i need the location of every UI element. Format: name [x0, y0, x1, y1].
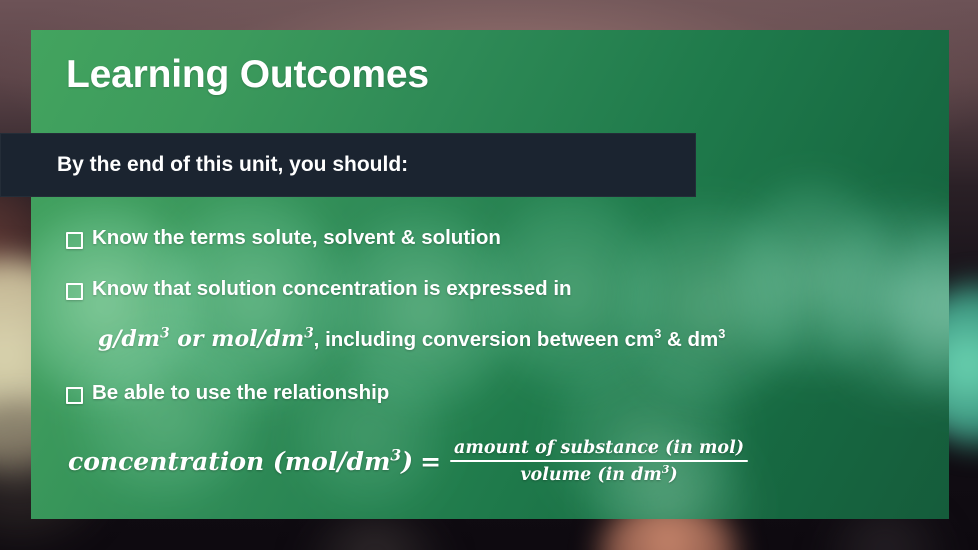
units-conjunction: or [170, 326, 212, 352]
units-mol-per-dm3-exponent: 3 [304, 326, 313, 342]
list-item: Know that solution concentration is expr… [66, 277, 572, 301]
units-mol-per-dm3-base: mol/dm [211, 326, 304, 352]
units-mol-per-dm3: mol/dm3 [211, 326, 314, 352]
units-g-per-dm3-exponent: 3 [160, 326, 169, 342]
units-g-per-dm3-base: g/dm [98, 326, 160, 352]
units-tail-text: , including conversion between cm [314, 328, 655, 351]
checkbox-square-icon [66, 387, 83, 404]
equation-left-side: concentration (mol/dm3) [68, 447, 413, 476]
units-g-per-dm3: g/dm3 [98, 326, 170, 352]
list-item: Be able to use the relationship [66, 381, 389, 405]
equation-denominator: volume (in dm3) [516, 462, 681, 486]
checkbox-square-icon [66, 232, 83, 249]
units-dm3-exponent: 3 [718, 326, 725, 341]
equation-lhs-exponent: 3 [390, 446, 401, 465]
units-subline: g/dm3 or mol/dm3, including conversion b… [98, 326, 725, 352]
equation-lhs-base: concentration (mol/dm [68, 447, 390, 476]
list-item-label: Be able to use the relationship [92, 381, 389, 405]
equation-fraction: amount of substance (in mol) volume (in … [450, 437, 748, 487]
list-item-label: Know that solution concentration is expr… [92, 277, 572, 301]
units-tail-mid-text: & dm [661, 328, 718, 351]
equation-numerator: amount of substance (in mol) [450, 437, 748, 460]
slide-canvas: Learning Outcomes By the end of this uni… [0, 0, 978, 550]
equation-lhs-close-paren: ) [401, 447, 413, 476]
equation-denominator-base: volume (in dm [520, 465, 661, 485]
checkbox-square-icon [66, 283, 83, 300]
equation-equals-sign: = [420, 447, 441, 476]
list-item: Know the terms solute, solvent & solutio… [66, 226, 501, 250]
equation-denominator-close-paren: ) [669, 465, 677, 485]
list-item-label: Know the terms solute, solvent & solutio… [92, 226, 501, 250]
concentration-equation: concentration (mol/dm3) = amount of subs… [68, 437, 748, 487]
